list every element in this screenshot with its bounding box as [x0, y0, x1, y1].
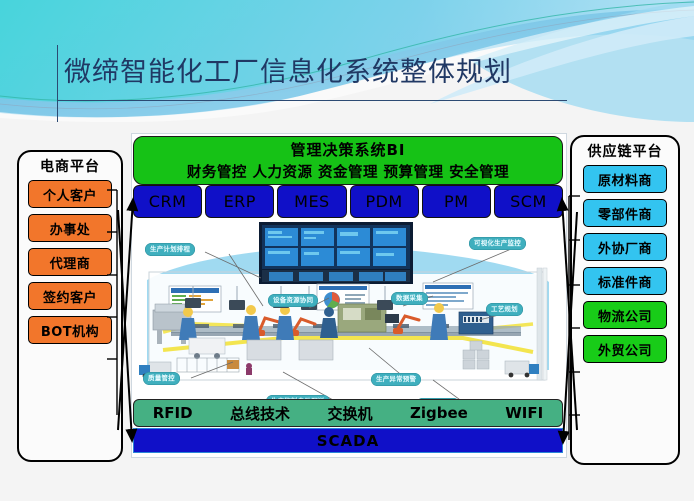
supply-chain-platform-panel: 供应链平台 原材料商 零部件商 外协厂商 标准件商 物流公司 外贸公司	[570, 135, 680, 465]
app-module-scm[interactable]: SCM	[494, 185, 563, 218]
right-panel-title: 供应链平台	[572, 137, 678, 163]
right-panel-item-5[interactable]: 外贸公司	[583, 335, 667, 363]
left-panel-item-4[interactable]: BOT机构	[28, 316, 112, 344]
left-panel-item-3[interactable]: 签约客户	[28, 282, 112, 310]
application-modules-row: CRM ERP MES PDM PM SCM	[133, 185, 563, 218]
slide-header: 微缔智能化工厂信息化系统整体规划	[0, 0, 694, 122]
title-horizontal-rule	[57, 100, 567, 101]
factory-tag-5: 质量管控	[143, 372, 180, 385]
left-panel-item-0[interactable]: 个人客户	[28, 180, 112, 208]
factory-tag-3: 工艺规划	[486, 303, 523, 316]
app-module-erp[interactable]: ERP	[205, 185, 274, 218]
right-panel-item-1[interactable]: 零部件商	[583, 199, 667, 227]
right-panel-item-0[interactable]: 原材料商	[583, 165, 667, 193]
factory-tag-1: 设备资源协同	[268, 294, 318, 307]
network-item-wifi: WIFI	[505, 404, 543, 422]
network-item-zigbee: Zigbee	[410, 404, 468, 422]
right-panel-item-3[interactable]: 标准件商	[583, 267, 667, 295]
network-item-rfid: RFID	[153, 404, 193, 422]
left-panel-item-1[interactable]: 办事处	[28, 214, 112, 242]
smart-factory-illustration: 生产计划排程 设备资源协同 数据采集 工艺规划 可视化生产监控 质量管控 生产异…	[133, 220, 563, 400]
bi-banner: 管理决策系统BI 财务管控 人力资源 资金管理 预算管理 安全管理	[133, 136, 563, 185]
scada-bar: SCADA	[133, 428, 563, 453]
app-module-pm[interactable]: PM	[422, 185, 491, 218]
page-title: 微缔智能化工厂信息化系统整体规划	[64, 56, 512, 90]
network-item-switch: 交换机	[327, 403, 372, 424]
left-panel-item-2[interactable]: 代理商	[28, 248, 112, 276]
factory-tag-2: 数据采集	[391, 292, 428, 305]
right-panel-items: 原材料商 零部件商 外协厂商 标准件商 物流公司 外贸公司	[572, 163, 678, 370]
scada-label: SCADA	[317, 432, 379, 450]
factory-tag-4: 可视化生产监控	[469, 237, 526, 250]
bi-banner-subtitle: 财务管控 人力资源 资金管理 预算管理 安全管理	[187, 161, 509, 182]
left-panel-title: 电商平台	[19, 152, 121, 178]
left-panel-items: 个人客户 办事处 代理商 签约客户 BOT机构	[19, 178, 121, 351]
app-module-pdm[interactable]: PDM	[350, 185, 419, 218]
title-vertical-rule	[57, 45, 58, 122]
app-module-mes[interactable]: MES	[277, 185, 346, 218]
network-item-bus: 总线技术	[230, 403, 290, 424]
factory-tag-6: 生产异常预警	[371, 373, 421, 386]
slide-root: 微缔智能化工厂信息化系统整体规划 电商平台 个人客户 办事处 代理商 签约客户 …	[0, 0, 694, 501]
network-technology-bar: RFID 总线技术 交换机 Zigbee WIFI	[133, 399, 563, 427]
right-panel-item-2[interactable]: 外协厂商	[583, 233, 667, 261]
right-panel-item-4[interactable]: 物流公司	[583, 301, 667, 329]
bi-banner-title: 管理决策系统BI	[290, 139, 405, 160]
factory-tag-0: 生产计划排程	[145, 243, 195, 256]
ecommerce-platform-panel: 电商平台 个人客户 办事处 代理商 签约客户 BOT机构	[17, 150, 123, 462]
app-module-crm[interactable]: CRM	[133, 185, 202, 218]
